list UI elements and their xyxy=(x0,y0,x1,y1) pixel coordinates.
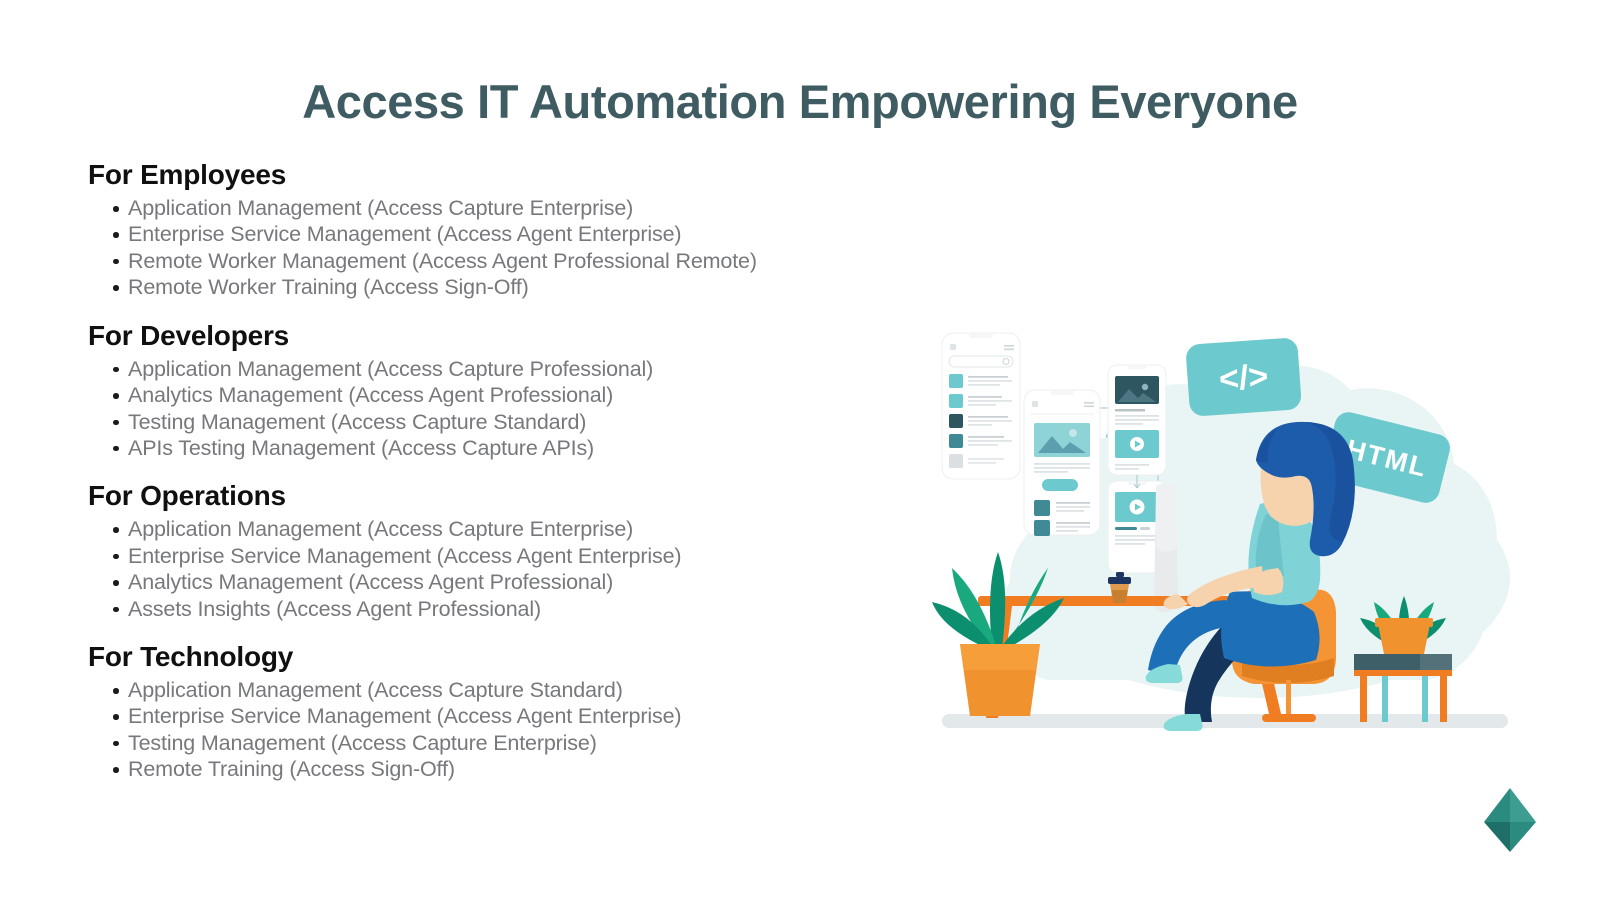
logo-facet-upper-left xyxy=(1484,788,1510,822)
side-stool xyxy=(1354,654,1452,722)
logo-facet-upper-right xyxy=(1510,788,1536,822)
bullet-list: Application Management (Access Capture S… xyxy=(88,677,918,783)
bullet-list: Application Management (Access Capture E… xyxy=(88,516,918,622)
developer-at-desk-illustration: </> HTML xyxy=(930,318,1520,758)
code-bubble: </> xyxy=(1185,337,1302,417)
list-item: Remote Training (Access Sign-Off) xyxy=(88,756,918,782)
section-for-employees: For Employees Application Management (Ac… xyxy=(88,158,918,301)
list-item: APIs Testing Management (Access Capture … xyxy=(88,435,918,461)
bullet-list: Application Management (Access Capture E… xyxy=(88,195,918,301)
section-heading: For Employees xyxy=(88,158,918,191)
list-item: Testing Management (Access Capture Enter… xyxy=(88,730,918,756)
section-heading: For Developers xyxy=(88,319,918,352)
slide-canvas: Access IT Automation Empowering Everyone… xyxy=(0,0,1600,900)
section-for-technology: For Technology Application Management (A… xyxy=(88,640,918,783)
list-item: Enterprise Service Management (Access Ag… xyxy=(88,703,918,729)
list-item: Enterprise Service Management (Access Ag… xyxy=(88,543,918,569)
phone-wireframe-3 xyxy=(1108,365,1166,475)
monitor xyxy=(1154,483,1178,612)
list-item: Remote Worker Management (Access Agent P… xyxy=(88,248,918,274)
code-bubble-label: </> xyxy=(1218,357,1270,398)
list-item: Enterprise Service Management (Access Ag… xyxy=(88,221,918,247)
section-heading: For Technology xyxy=(88,640,918,673)
phone-wireframe-2 xyxy=(1024,390,1100,536)
page-title: Access IT Automation Empowering Everyone xyxy=(0,74,1600,129)
list-item: Remote Worker Training (Access Sign-Off) xyxy=(88,274,918,300)
logo-facet-lower-right xyxy=(1510,822,1536,852)
list-item: Assets Insights (Access Agent Profession… xyxy=(88,596,918,622)
list-item: Application Management (Access Capture P… xyxy=(88,356,918,382)
section-heading: For Operations xyxy=(88,479,918,512)
diamond-logo xyxy=(1482,786,1538,854)
list-item: Application Management (Access Capture S… xyxy=(88,677,918,703)
list-item: Testing Management (Access Capture Stand… xyxy=(88,409,918,435)
logo-facet-lower-left xyxy=(1484,822,1510,852)
list-item: Application Management (Access Capture E… xyxy=(88,516,918,542)
bullet-list: Application Management (Access Capture P… xyxy=(88,356,918,462)
list-item: Analytics Management (Access Agent Profe… xyxy=(88,569,918,595)
section-for-developers: For Developers Application Management (A… xyxy=(88,319,918,462)
phone-wireframe-1 xyxy=(942,333,1020,479)
list-item: Application Management (Access Capture E… xyxy=(88,195,918,221)
list-item: Analytics Management (Access Agent Profe… xyxy=(88,382,918,408)
content-column: For Employees Application Management (Ac… xyxy=(88,158,918,783)
section-for-operations: For Operations Application Management (A… xyxy=(88,479,918,622)
